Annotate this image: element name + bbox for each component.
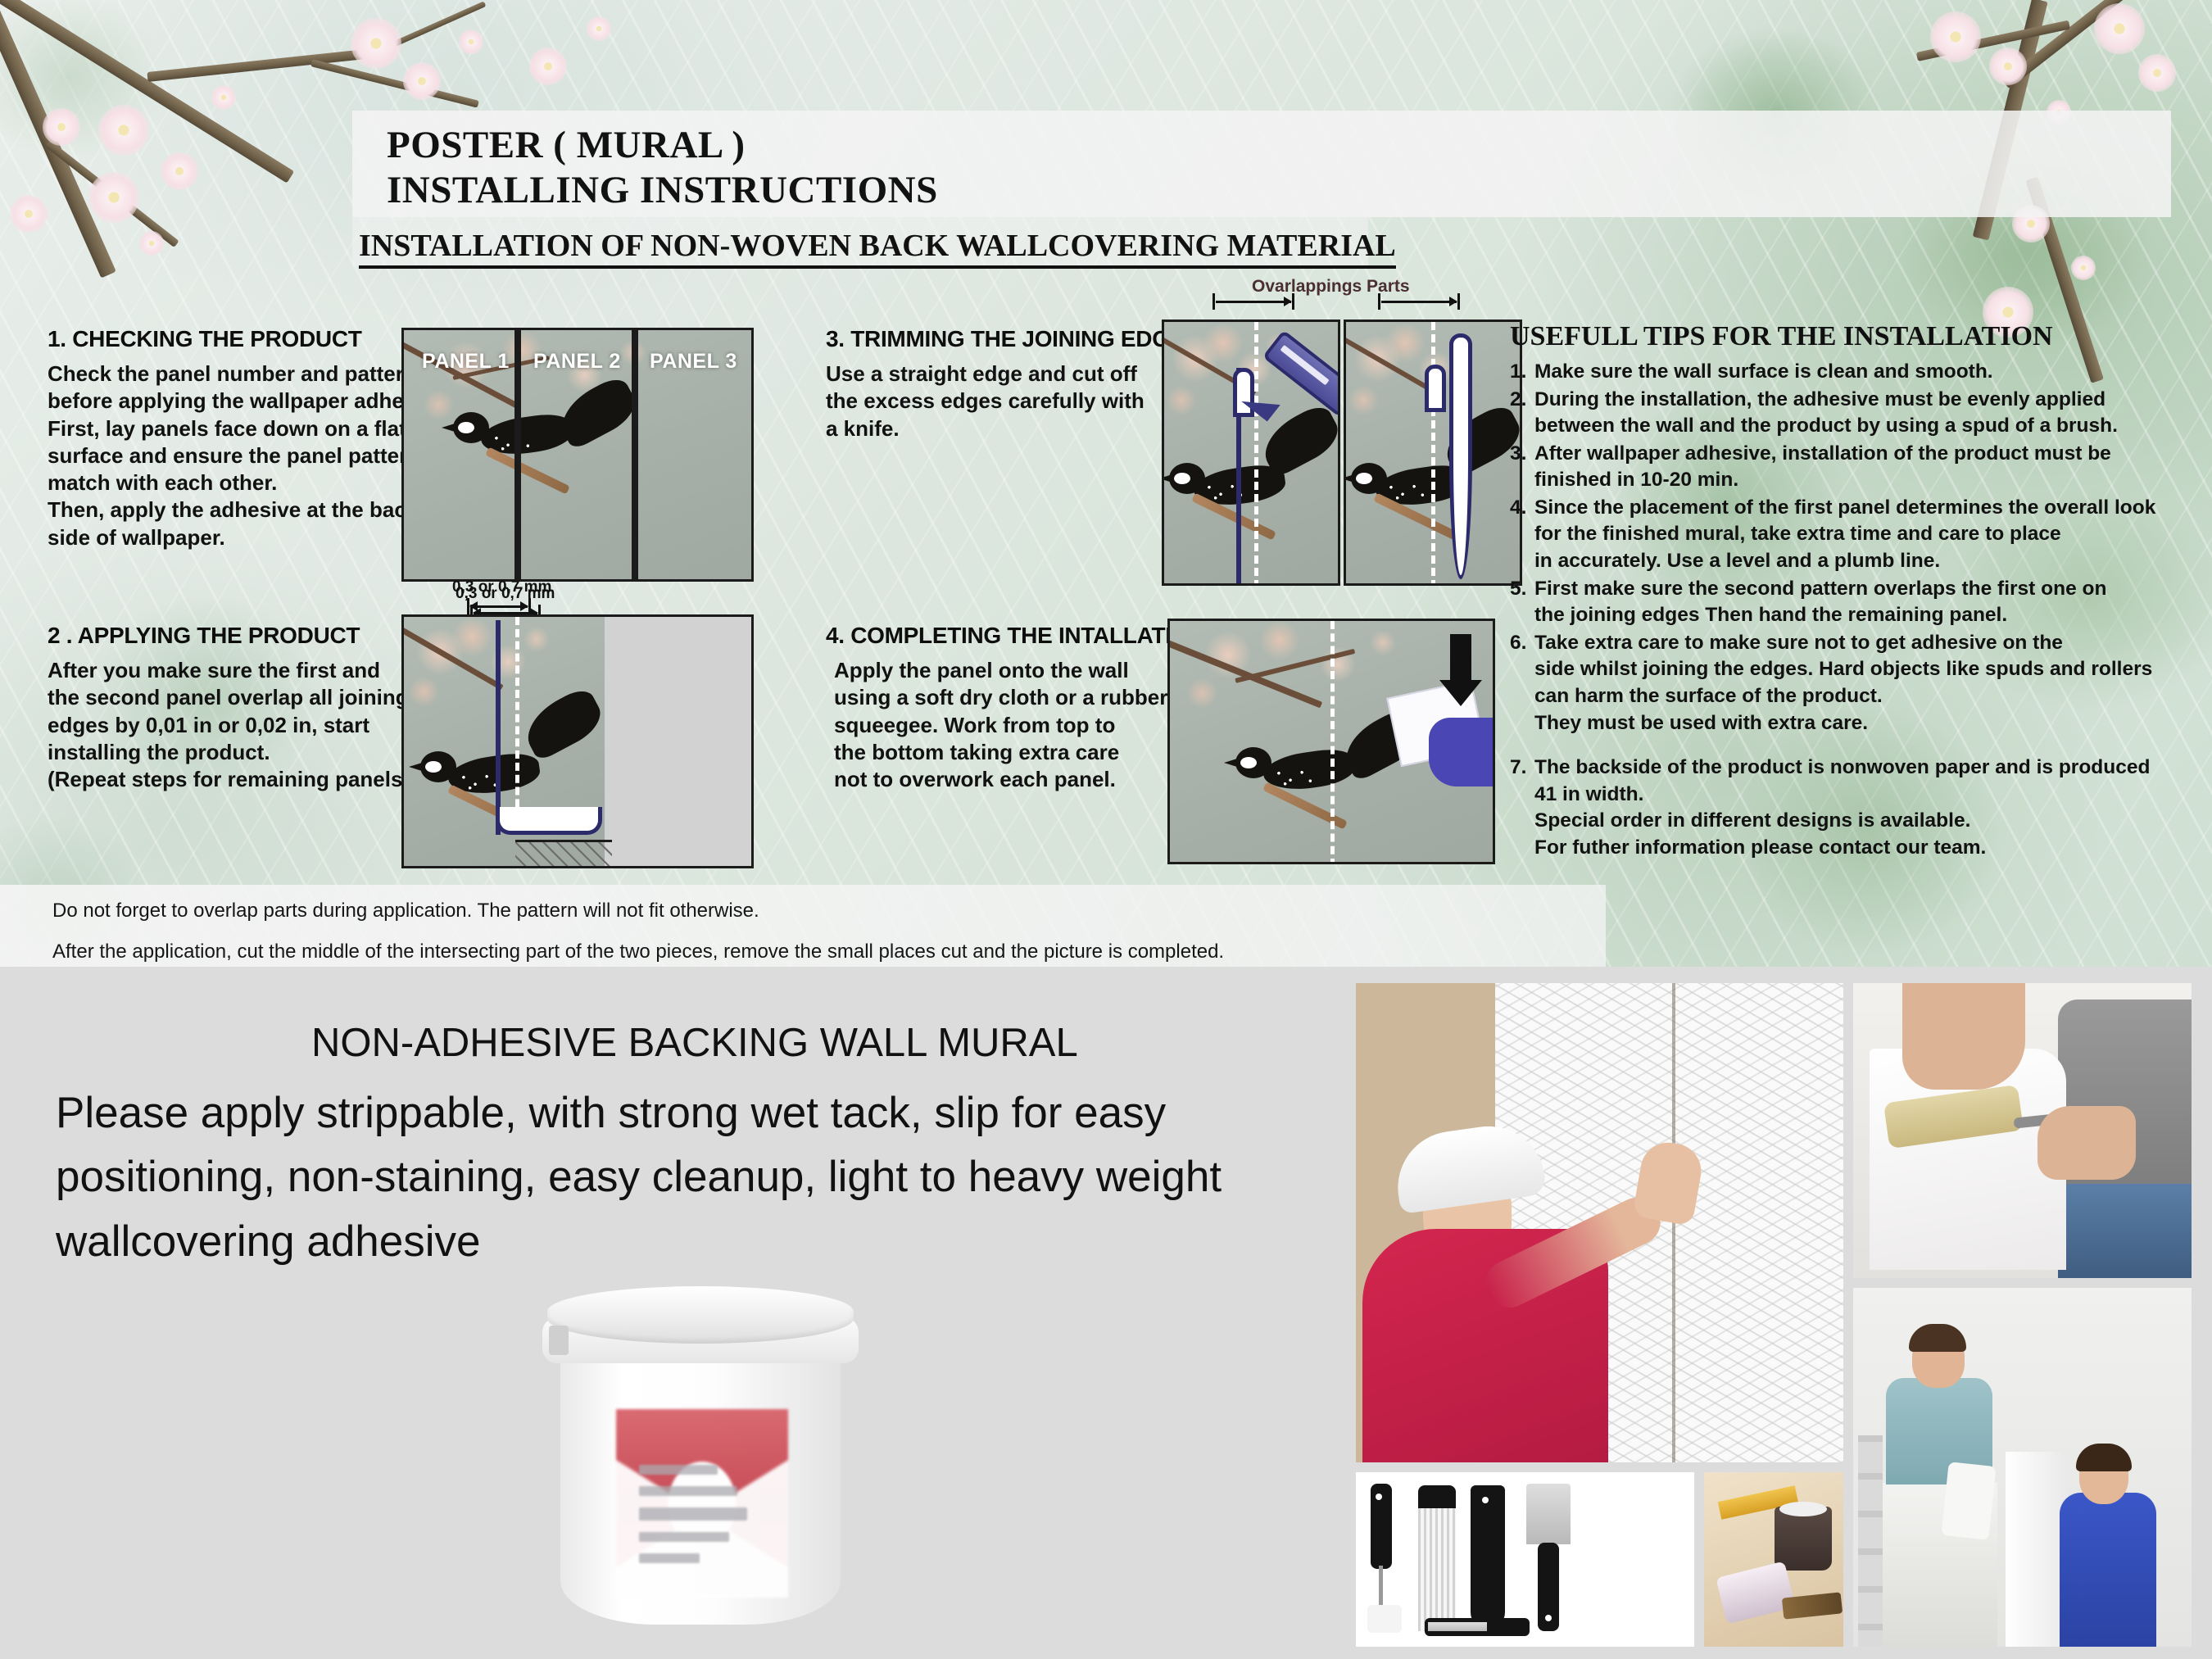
bucket-lid bbox=[547, 1286, 854, 1344]
step-1-line-4: surface and ensure the panel patterns bbox=[48, 442, 451, 469]
step-2-line-5: (Repeat steps for remaining panels) bbox=[48, 766, 410, 793]
cut-line-dashed-smoothing bbox=[1330, 621, 1335, 864]
paste-pot-rim bbox=[1779, 1502, 1827, 1516]
tip-7-line-3: Special order in different designs is av… bbox=[1534, 808, 2150, 835]
worker-forearm bbox=[1902, 983, 2025, 1090]
diagram-step-3-trim-right bbox=[1344, 320, 1522, 586]
tip-1-line-1: Make sure the wall surface is clean and … bbox=[1534, 359, 1993, 386]
diagram-step-2-overlap bbox=[401, 614, 754, 868]
tip-item-4: 4. Since the placement of the first pane… bbox=[1510, 495, 2149, 575]
tip-3-number: 3. bbox=[1510, 441, 1534, 494]
wallpaper-roll-on-wall bbox=[2006, 1452, 2068, 1647]
straight-edge-grip-right bbox=[1425, 365, 1446, 412]
photo-brushes-and-paste bbox=[1704, 1472, 1843, 1647]
step-4-line-4: the bottom taking extra care bbox=[834, 739, 1167, 766]
tip-4-line-3: in accurately. Use a level and a plumb l… bbox=[1534, 548, 2155, 575]
tip-7-line-4: For futher information please contact ou… bbox=[1534, 835, 2150, 862]
photo-paste-roller bbox=[1853, 983, 2192, 1278]
step-1-line-7: side of wallpaper. bbox=[48, 524, 451, 551]
tip-6-line-3: can harm the surface of the product. bbox=[1534, 683, 2152, 710]
adhesive-description: Please apply strippable, with strong wet… bbox=[56, 1081, 1334, 1274]
adhesive-copy-line-1: Please apply strippable, with strong wet… bbox=[56, 1081, 1334, 1145]
worker-jeans bbox=[2058, 1184, 2192, 1278]
step-2-line-1: After you make sure the first and bbox=[48, 657, 410, 684]
tip-item-1: 1. Make sure the wall surface is clean a… bbox=[1510, 359, 2149, 386]
note-line-2: After the application, cut the middle of… bbox=[52, 941, 1224, 963]
photo-woman-hanging-lining bbox=[1356, 983, 1843, 1462]
photo-two-people-hanging bbox=[1853, 1288, 2192, 1647]
cut-line-dashed-trim-right bbox=[1431, 322, 1435, 586]
step-1-heading: 1. CHECKING THE PRODUCT bbox=[48, 326, 362, 352]
step-2-line-4: installing the product. bbox=[48, 739, 410, 766]
step-4-line-2: using a soft dry cloth or a rubber bbox=[834, 684, 1167, 711]
tip-2-line-2: between the wall and the product by usin… bbox=[1534, 413, 2118, 440]
tip-4-number: 4. bbox=[1510, 495, 1534, 575]
bucket-handle-tab bbox=[549, 1326, 569, 1355]
man-apron-cloth bbox=[1941, 1462, 1996, 1540]
step-3-line-3: a knife. bbox=[826, 415, 1145, 442]
tip-item-6: 6. Take extra care to make sure not to g… bbox=[1510, 630, 2149, 737]
step-4-line-1: Apply the panel onto the wall bbox=[834, 657, 1167, 684]
adhesive-copy-line-2: positioning, non-staining, easy cleanup,… bbox=[56, 1145, 1334, 1209]
adhesive-title: NON-ADHESIVE BACKING WALL MURAL bbox=[311, 1020, 1078, 1066]
straight-edge-tool-right bbox=[1449, 333, 1472, 579]
tip-item-5: 5. First make sure the second pattern ov… bbox=[1510, 576, 2149, 629]
instruction-poster-panel: POSTER ( MURAL ) INSTALLING INSTRUCTIONS… bbox=[0, 0, 2212, 967]
step-1-line-1: Check the panel number and pattern bbox=[48, 360, 451, 388]
note-line-1: Do not forget to overlap parts during ap… bbox=[52, 900, 759, 922]
step-3-body: Use a straight edge and cut off the exce… bbox=[826, 360, 1145, 442]
step-ladder bbox=[1858, 1435, 1883, 1647]
step-2-body: After you make sure the first and the se… bbox=[48, 657, 410, 793]
child-hair bbox=[2076, 1444, 2132, 1471]
tip-7-line-2: 41 in width. bbox=[1534, 782, 2150, 809]
step-4-line-3: squeegee. Work from top to bbox=[834, 712, 1167, 739]
step-2-line-2: the second panel overlap all joining bbox=[48, 684, 410, 711]
dimension-arrow-overlap bbox=[467, 598, 531, 614]
photo-tool-set bbox=[1356, 1472, 1694, 1647]
tip-item-3: 3. After wallpaper adhesive, installatio… bbox=[1510, 441, 2149, 494]
worker-hand bbox=[2037, 1106, 2136, 1180]
overlap-arrow-left bbox=[1213, 293, 1294, 310]
tip-6-line-2: side whilst joining the edges. Hard obje… bbox=[1534, 656, 2152, 683]
adhesive-bucket-image bbox=[541, 1286, 860, 1634]
tip-3-line-1: After wallpaper adhesive, installation o… bbox=[1534, 441, 2111, 468]
step-1-line-6: Then, apply the adhesive at the back bbox=[48, 496, 451, 524]
tip-6-number: 6. bbox=[1510, 630, 1534, 737]
step-2-heading: 2 . APPLYING THE PRODUCT bbox=[48, 623, 360, 649]
overlap-arrow-right bbox=[1378, 293, 1460, 310]
tip-5-number: 5. bbox=[1510, 576, 1534, 629]
child-coat bbox=[2060, 1493, 2156, 1647]
diagram-step-1-panels: PANEL 1 PANEL 2 PANEL 3 bbox=[401, 328, 754, 582]
tip-5-line-2: the joining edges Then hand the remainin… bbox=[1534, 602, 2106, 629]
step-1-line-2: before applying the wallpaper adhesive. bbox=[48, 388, 451, 415]
page-title-line2: INSTALLING INSTRUCTIONS bbox=[387, 168, 938, 212]
tip-4-line-2: for the finished mural, take extra time … bbox=[1534, 521, 2155, 548]
diagram-step-3-trim-left bbox=[1162, 320, 1340, 586]
tip-6-line-4: They must be used with extra care. bbox=[1534, 710, 2152, 737]
overlap-hatch-area bbox=[515, 840, 612, 868]
tip-7-line-1: The backside of the product is nonwoven … bbox=[1534, 755, 2150, 782]
step-1-line-5: match with each other. bbox=[48, 469, 451, 496]
panel-2-label: PANEL 2 bbox=[533, 350, 621, 374]
tip-2-line-1: During the installation, the adhesive mu… bbox=[1534, 387, 2118, 414]
tip-6-line-1: Take extra care to make sure not to get … bbox=[1534, 630, 2152, 657]
man-hair bbox=[1909, 1324, 1966, 1352]
step-3-heading: 3. TRIMMING THE JOINING EDGES bbox=[826, 326, 1199, 352]
page-subtitle: INSTALLATION OF NON-WOVEN BACK WALLCOVER… bbox=[359, 228, 1396, 269]
bird-illustration-trim-right bbox=[1351, 453, 1522, 568]
page-title-line1: POSTER ( MURAL ) bbox=[387, 123, 746, 167]
tip-5-line-1: First make sure the second pattern overl… bbox=[1534, 576, 2106, 603]
tips-section-title: USEFULL TIPS FOR THE INSTALLATION bbox=[1510, 321, 2053, 352]
tip-item-7: 7. The backside of the product is nonwov… bbox=[1510, 755, 2149, 861]
dimension-label-overlap: 0,3 or 0,7 mm bbox=[452, 578, 551, 596]
diagram-step-4-smoothing bbox=[1167, 619, 1495, 864]
tip-1-number: 1. bbox=[1510, 359, 1534, 386]
tip-2-number: 2. bbox=[1510, 387, 1534, 440]
panel-3-label: PANEL 3 bbox=[650, 350, 737, 374]
step-4-body: Apply the panel onto the wall using a so… bbox=[834, 657, 1167, 793]
photo-collage bbox=[1356, 983, 2192, 1647]
downward-arrow-icon bbox=[1450, 634, 1471, 682]
tip-item-2: 2. During the installation, the adhesive… bbox=[1510, 387, 2149, 440]
tip-7-number: 7. bbox=[1510, 755, 1534, 861]
gloved-hand-icon bbox=[1429, 718, 1495, 786]
step-1-body: Check the panel number and pattern befor… bbox=[48, 360, 451, 551]
adhesive-copy-line-3: wallcovering adhesive bbox=[56, 1210, 1334, 1274]
bucket-label-text-lines bbox=[639, 1450, 762, 1573]
step-3-line-1: Use a straight edge and cut off bbox=[826, 360, 1145, 388]
panel-1-label: PANEL 1 bbox=[422, 350, 510, 374]
tip-4-line-1: Since the placement of the first panel d… bbox=[1534, 495, 2155, 522]
overlap-edge-marker bbox=[496, 620, 602, 835]
step-2-line-3: edges by 0,01 in or 0,02 in, start bbox=[48, 712, 410, 739]
cherry-branch-left-edge bbox=[0, 0, 279, 295]
tip-3-line-2: finished in 10-20 min. bbox=[1534, 467, 2111, 494]
step-1-line-3: First, lay panels face down on a flat bbox=[48, 415, 451, 442]
cut-line-dashed-trim-left bbox=[1254, 322, 1258, 586]
step-3-line-2: the excess edges carefully with bbox=[826, 388, 1145, 415]
step-4-heading: 4. COMPLETING THE INTALLATION bbox=[826, 623, 1205, 649]
step-4-line-5: not to overwork each panel. bbox=[834, 766, 1167, 793]
bird-illustration-panels bbox=[453, 402, 682, 558]
tips-list: 1. Make sure the wall surface is clean a… bbox=[1510, 359, 2149, 862]
